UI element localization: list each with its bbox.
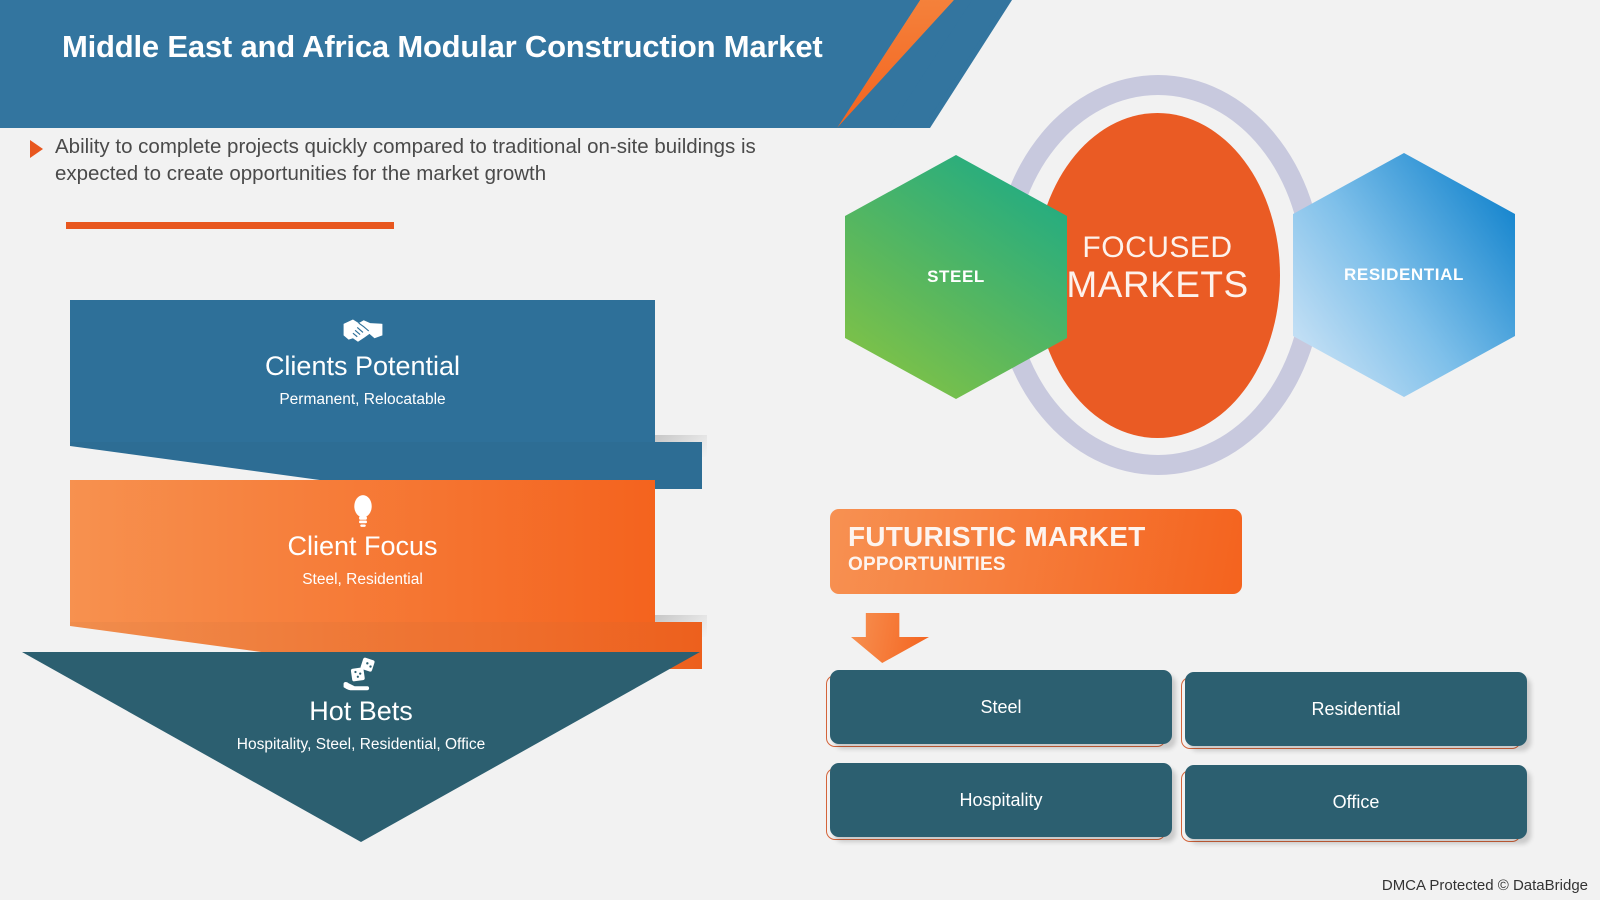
focused-markets-line2: MARKETS: [1035, 266, 1280, 303]
stage-subtitle: Hospitality, Steel, Residential, Office: [22, 736, 700, 755]
opportunity-card-hospitality[interactable]: Hospitality: [830, 763, 1172, 837]
futuristic-market-banner: FUTURISTIC MARKET OPPORTUNITIES: [830, 509, 1242, 594]
stage-band: [70, 300, 655, 442]
triangle-right-icon: [30, 140, 43, 158]
futuristic-market-line2: OPPORTUNITIES: [848, 554, 1242, 576]
footer-copyright: DMCA Protected © DataBridge: [1382, 877, 1588, 894]
subtitle-text: Ability to complete projects quickly com…: [55, 133, 815, 188]
stage-title: Hot Bets: [22, 697, 700, 727]
down-arrow-icon: [851, 613, 929, 663]
stage-band: [70, 480, 655, 622]
stage-content: Hot Bets Hospitality, Steel, Residential…: [22, 645, 700, 754]
hexagon-residential-label: RESIDENTIAL: [1344, 265, 1464, 285]
opportunity-card-steel[interactable]: Steel: [830, 670, 1172, 744]
infographic-canvas: Middle East and Africa Modular Construct…: [0, 0, 1600, 900]
focused-markets-diagram: STEEL RESIDENTIAL FOCUSED MARKETS: [845, 75, 1515, 475]
focused-markets-text: FOCUSED MARKETS: [1035, 233, 1280, 303]
page-title: Middle East and Africa Modular Construct…: [62, 26, 882, 67]
opportunity-card-office[interactable]: Office: [1185, 765, 1527, 839]
hand-dice-icon: [338, 657, 384, 695]
funnel-diagram: Clients Potential Permanent, Relocatable…: [0, 290, 760, 850]
futuristic-market-line1: FUTURISTIC MARKET: [848, 522, 1242, 552]
opportunity-cards: Steel Residential Hospitality Office: [830, 670, 1530, 850]
opportunity-card-residential[interactable]: Residential: [1185, 672, 1527, 746]
hexagon-steel-label: STEEL: [927, 267, 985, 287]
hexagon-residential[interactable]: RESIDENTIAL: [1293, 153, 1515, 397]
orange-divider: [66, 222, 394, 229]
subtitle-row: Ability to complete projects quickly com…: [30, 133, 850, 188]
focused-markets-line1: FOCUSED: [1035, 233, 1280, 263]
